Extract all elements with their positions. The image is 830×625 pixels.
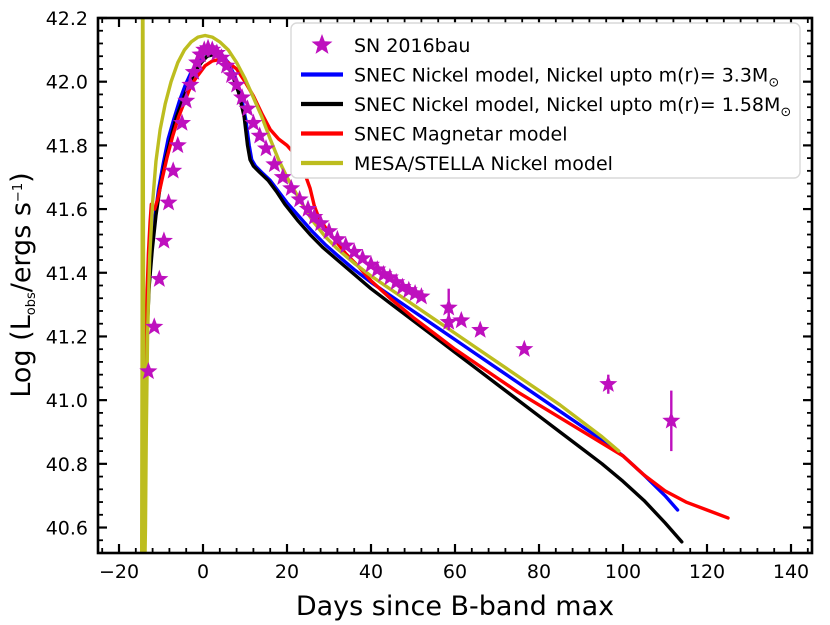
x-tick-label: 40 <box>359 561 383 583</box>
legend-item-label: SNEC Magnetar model <box>354 124 568 146</box>
figure-container: −2002040608010012014040.640.841.041.241.… <box>0 0 830 625</box>
x-tick-label: 20 <box>275 561 299 583</box>
legend-item-label: SN 2016bau <box>354 35 470 57</box>
legend-item-label: MESA/STELLA Nickel model <box>354 153 613 175</box>
y-tick-label: 41.2 <box>46 326 88 348</box>
y-tick-label: 41.8 <box>46 135 88 157</box>
light-curve-chart: −2002040608010012014040.640.841.041.241.… <box>0 0 830 625</box>
y-axis-label: Log (Lobs/ergs s−1) <box>6 172 39 397</box>
x-tick-label: −20 <box>99 561 139 583</box>
legend-group: SN 2016bauSNEC Nickel model, Nickel upto… <box>291 23 800 178</box>
x-tick-label: 80 <box>527 561 551 583</box>
y-tick-label: 41.4 <box>46 263 88 285</box>
y-tick-label: 40.6 <box>46 518 88 540</box>
x-axis-label: Days since B-band max <box>296 591 614 622</box>
y-tick-label: 41.0 <box>46 390 88 412</box>
y-tick-label: 42.0 <box>46 72 88 94</box>
y-tick-label: 41.6 <box>46 199 88 221</box>
y-tick-label: 42.2 <box>46 8 88 30</box>
x-tick-label: 100 <box>605 561 641 583</box>
x-tick-label: 0 <box>197 561 209 583</box>
x-tick-label: 120 <box>689 561 725 583</box>
x-tick-label: 140 <box>773 561 809 583</box>
y-tick-label: 40.8 <box>46 454 88 476</box>
x-tick-label: 60 <box>443 561 467 583</box>
